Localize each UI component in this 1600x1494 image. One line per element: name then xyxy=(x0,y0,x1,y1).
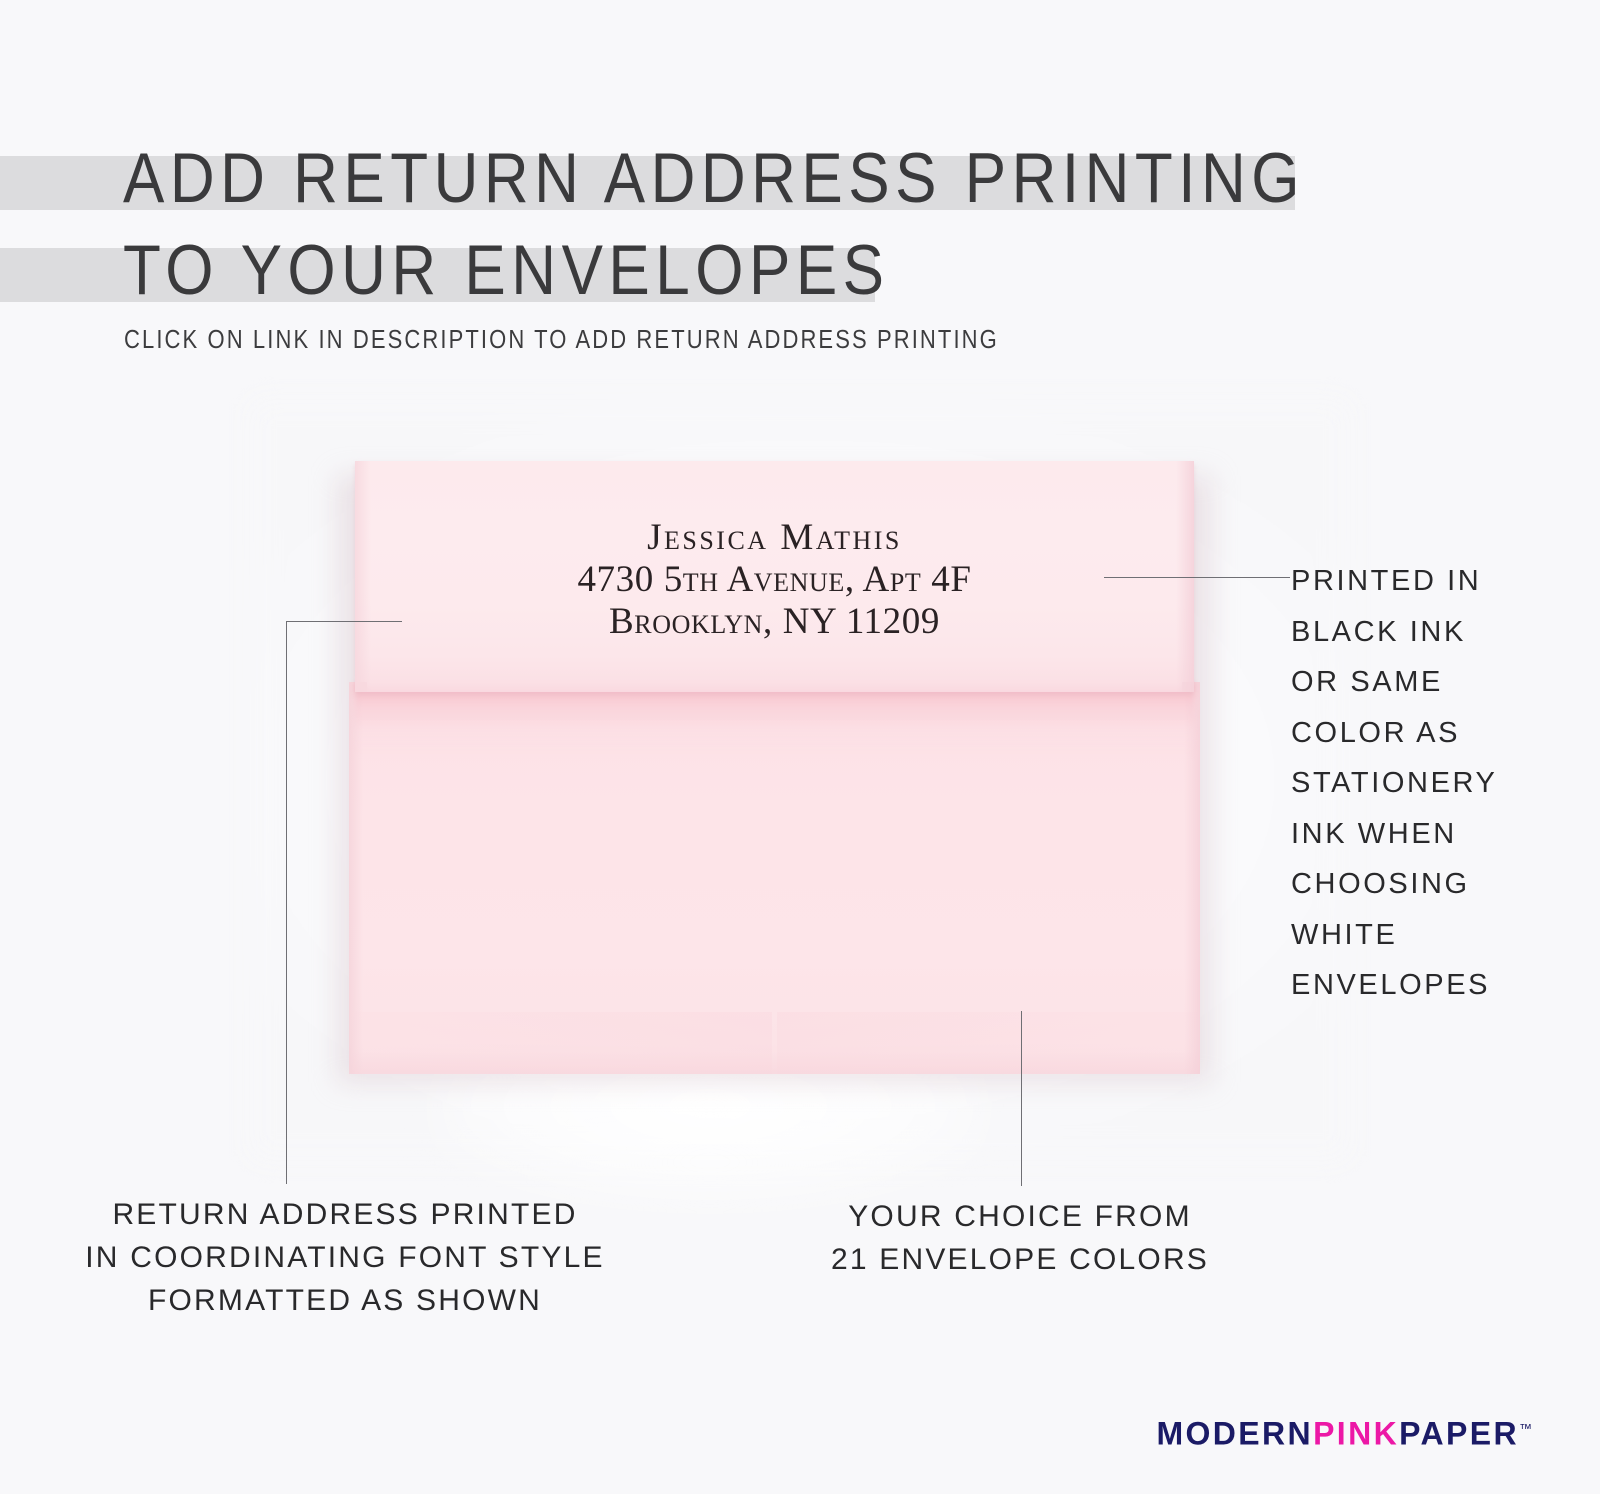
callout-right-line-6: INK WHEN xyxy=(1291,809,1591,860)
printed-return-address: Jessica Mathis 4730 5th Avenue, Apt 4F B… xyxy=(355,517,1194,643)
callout-return-address-font-style: RETURN ADDRESS PRINTED IN COORDINATING F… xyxy=(0,1193,690,1322)
callout-right-line-5: STATIONERY xyxy=(1291,758,1591,809)
envelope-bottom-seam xyxy=(349,1052,1200,1074)
callout-left-line-3: FORMATTED AS SHOWN xyxy=(0,1279,690,1322)
callout-right-line-2: BLACK INK xyxy=(1291,607,1591,658)
callout-left-line-2: IN COORDINATING FONT STYLE xyxy=(0,1236,690,1279)
leader-line-center-vertical xyxy=(1021,1011,1022,1186)
callout-right-line-9: ENVELOPES xyxy=(1291,960,1591,1011)
callout-printed-in-black-ink: PRINTED IN BLACK INK OR SAME COLOR AS ST… xyxy=(1291,556,1591,1011)
envelope-product-image: Jessica Mathis 4730 5th Avenue, Apt 4F B… xyxy=(349,461,1200,1074)
callout-right-line-4: COLOR AS xyxy=(1291,708,1591,759)
page-title-line-1: ADD RETURN ADDRESS PRINTING xyxy=(0,148,1600,218)
return-address-street: 4730 5th Avenue, Apt 4F xyxy=(355,559,1194,601)
callout-right-line-3: OR SAME xyxy=(1291,657,1591,708)
callout-envelope-colors: YOUR CHOICE FROM 21 ENVELOPE COLORS xyxy=(820,1195,1220,1281)
envelope-flap-notch-right xyxy=(1182,682,1194,692)
callout-right-line-1: PRINTED IN xyxy=(1291,556,1591,607)
return-address-name: Jessica Mathis xyxy=(355,517,1194,559)
leader-line-left-vertical xyxy=(286,621,287,1184)
logo-text-modern: MODERN xyxy=(1156,1416,1313,1452)
callout-right-line-7: CHOOSING xyxy=(1291,859,1591,910)
logo-text-paper: PAPER xyxy=(1399,1416,1519,1452)
envelope-flap-shadow xyxy=(355,683,1194,757)
page-title-text-2: TO YOUR ENVELOPES xyxy=(0,236,1600,307)
page-title-line-2: TO YOUR ENVELOPES xyxy=(0,240,1600,310)
logo-text-pink: PINK xyxy=(1313,1416,1399,1452)
page-subtitle: CLICK ON LINK IN DESCRIPTION TO ADD RETU… xyxy=(124,325,999,355)
callout-center-line-2: 21 ENVELOPE COLORS xyxy=(820,1238,1220,1281)
envelope-flap-notch-left xyxy=(355,682,367,692)
callout-left-line-1: RETURN ADDRESS PRINTED xyxy=(0,1193,690,1236)
envelope-flap: Jessica Mathis 4730 5th Avenue, Apt 4F B… xyxy=(355,461,1194,692)
page-title-text-1: ADD RETURN ADDRESS PRINTING xyxy=(0,144,1600,215)
return-address-city-state-zip: Brooklyn, NY 11209 xyxy=(355,601,1194,643)
callout-right-line-8: WHITE xyxy=(1291,910,1591,961)
trademark-symbol: ™ xyxy=(1519,1421,1532,1436)
brand-logo[interactable]: MODERNPINKPAPER™ xyxy=(1156,1412,1532,1451)
callout-center-line-1: YOUR CHOICE FROM xyxy=(820,1195,1220,1238)
